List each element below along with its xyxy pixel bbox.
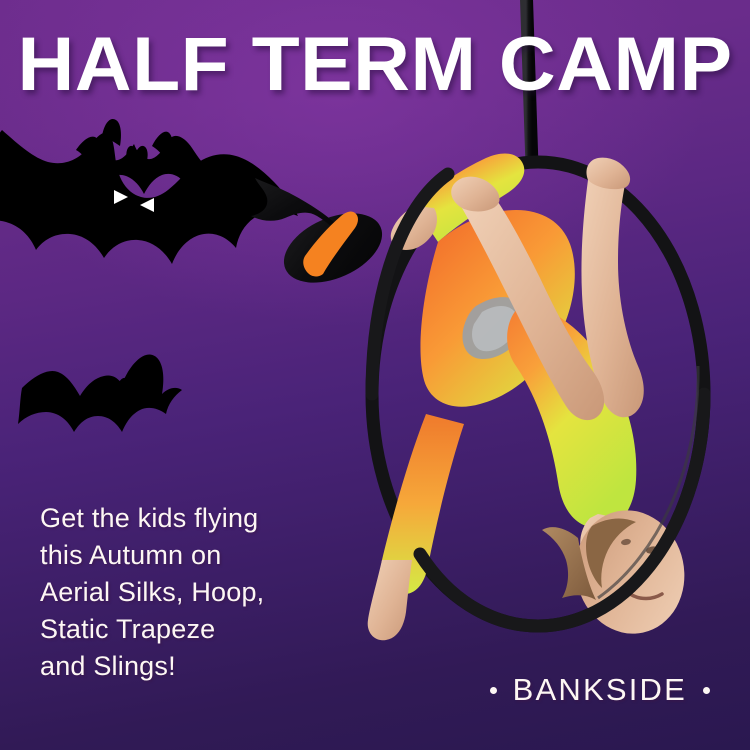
body-line-4: Static Trapeze (40, 611, 340, 648)
poster-canvas: HALF TERM CAMP (0, 0, 750, 750)
bullet-dot-left-icon (490, 687, 497, 694)
body-line-5: and Slings! (40, 648, 340, 685)
page-title: HALF TERM CAMP (0, 22, 750, 108)
location-lockup: BANKSIDE (490, 672, 710, 708)
bullet-dot-right-icon (703, 687, 710, 694)
location-label: BANKSIDE (513, 672, 687, 708)
bat-small-bottom-icon (18, 355, 182, 432)
body-line-3: Aerial Silks, Hoop, (40, 574, 340, 611)
body-copy: Get the kids flying this Autumn on Aeria… (40, 500, 340, 685)
foot-lower-left (368, 560, 412, 640)
body-line-1: Get the kids flying (40, 500, 340, 537)
witch-hat-icon (245, 160, 405, 320)
body-line-2: this Autumn on (40, 537, 340, 574)
